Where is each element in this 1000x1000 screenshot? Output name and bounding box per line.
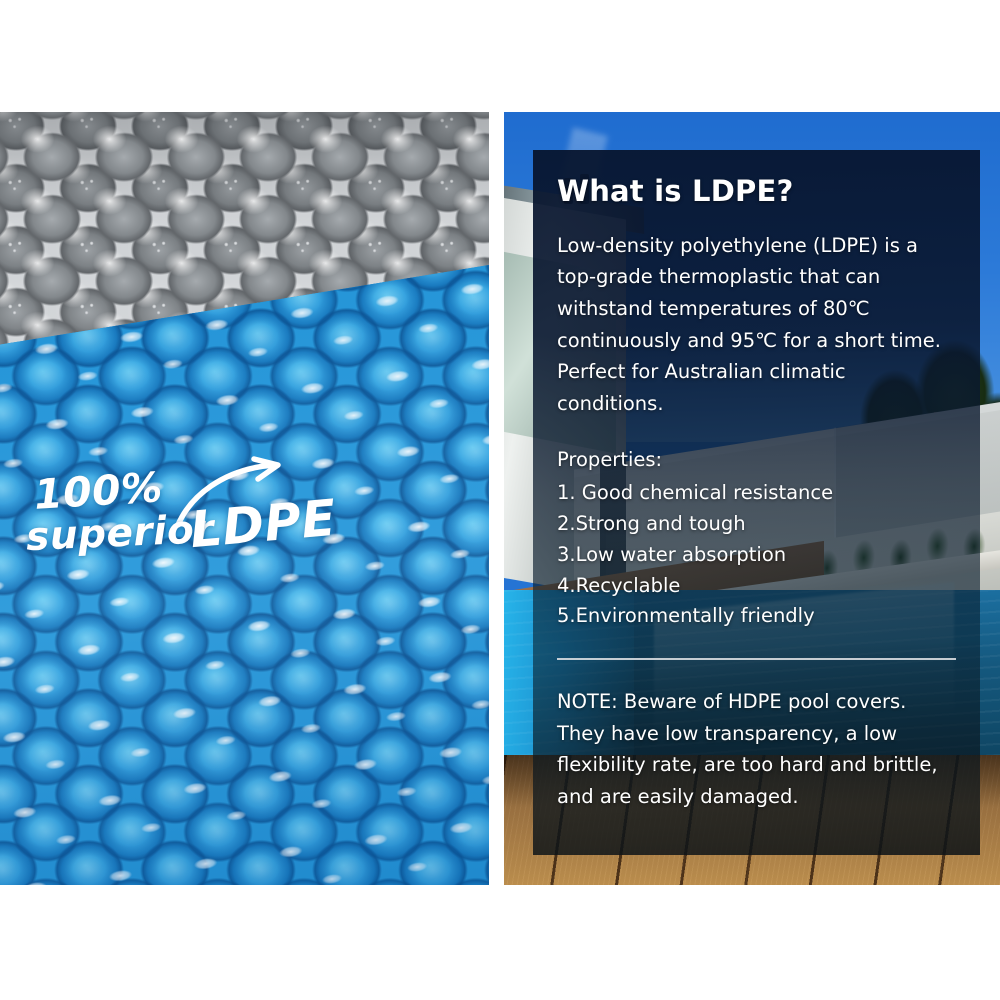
card-title: What is LDPE? (557, 176, 956, 208)
right-info-panel: What is LDPE? Low-density polyethylene (… (504, 112, 1000, 885)
property-item-3: 3.Low water absorption (557, 540, 956, 571)
property-item-4: 4.Recyclable (557, 571, 956, 602)
properties-list: 1. Good chemical resistance 2.Strong and… (557, 478, 956, 632)
properties-heading: Properties: (557, 445, 956, 476)
callout-line-superior: superior (25, 507, 215, 560)
callout-line-ldpe: LDPE (188, 489, 339, 560)
property-item-2: 2.Strong and tough (557, 509, 956, 540)
property-item-1: 1. Good chemical resistance (557, 478, 956, 509)
left-product-photo-panel: 100% superior LDPE (0, 112, 489, 885)
card-divider (557, 658, 956, 660)
card-note-paragraph: NOTE: Beware of HDPE pool covers. They h… (557, 686, 956, 812)
infographic-canvas: 100% superior LDPE (0, 0, 1000, 1000)
ldpe-info-card: What is LDPE? Low-density polyethylene (… (533, 150, 980, 855)
card-intro-paragraph: Low-density polyethylene (LDPE) is a top… (557, 230, 956, 419)
property-item-5: 5.Environmentally friendly (557, 601, 956, 632)
superior-ldpe-callout: 100% superior LDPE (26, 467, 356, 577)
